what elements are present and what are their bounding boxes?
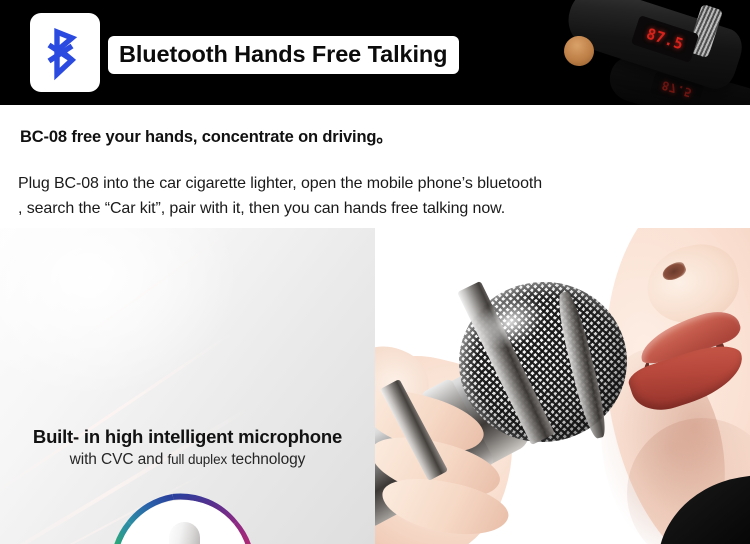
- banner-title: Bluetooth Hands Free Talking: [119, 43, 447, 67]
- caption-sub-suffix: technology: [227, 451, 305, 468]
- banner-title-box: Bluetooth Hands Free Talking: [108, 36, 459, 74]
- description-section: BC-08 free your hands, concentrate on dr…: [0, 105, 750, 228]
- singing-photo-panel: [375, 228, 750, 544]
- light-streak: [52, 228, 247, 360]
- bluetooth-icon: [45, 25, 85, 81]
- product-marketing-image: 87.5 87.5 Bluetooth Hands Free Talking: [0, 0, 750, 544]
- description-body-line-1: Plug BC-08 into the car cigarette lighte…: [18, 171, 733, 196]
- description-body-line-2: , search the “Car kit”, pair with it, th…: [18, 196, 733, 221]
- device-reflection-frequency: 87.5: [660, 78, 694, 100]
- photo-composition: [375, 228, 750, 544]
- microphone-icon: [141, 518, 227, 544]
- description-headline: BC-08 free your hands, concentrate on dr…: [20, 123, 393, 147]
- microphone-badge: [107, 490, 259, 544]
- microphone-feature-panel: Built- in high intelligent microphone wi…: [0, 228, 375, 544]
- device-frequency-value: 87.5: [644, 25, 686, 54]
- description-body: Plug BC-08 into the car cigarette lighte…: [18, 171, 733, 221]
- caption-sub-small: full duplex: [167, 452, 227, 467]
- bc08-device-photo: 87.5 87.5: [530, 0, 750, 105]
- header-banner: 87.5 87.5 Bluetooth Hands Free Talking: [0, 0, 750, 105]
- feature-caption-sub: with CVC and full duplex technology: [0, 451, 375, 469]
- caption-sub-prefix: with CVC and: [70, 451, 168, 468]
- feature-panels: Built- in high intelligent microphone wi…: [0, 228, 750, 544]
- panel-glow: [0, 228, 240, 398]
- feature-caption-main: Built- in high intelligent microphone: [0, 426, 375, 448]
- bluetooth-logo-badge: [30, 13, 100, 92]
- feature-caption: Built- in high intelligent microphone wi…: [0, 426, 375, 469]
- light-streak: [0, 330, 235, 500]
